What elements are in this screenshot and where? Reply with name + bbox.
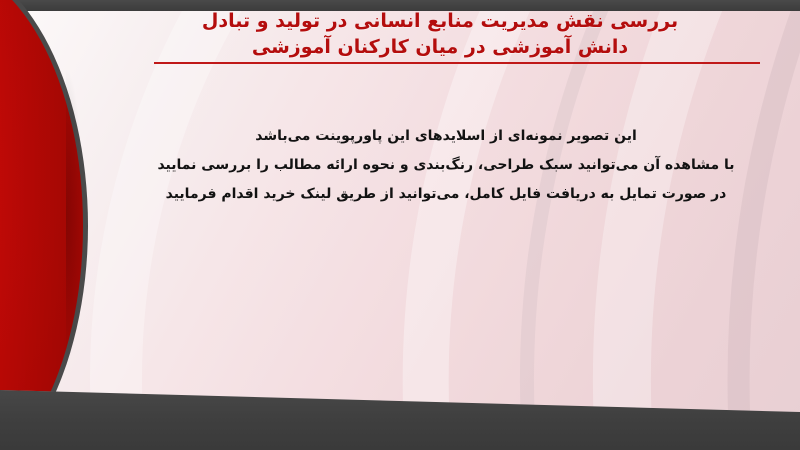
red-ellipse-decoration xyxy=(0,0,88,450)
ellipse-shading xyxy=(0,0,83,450)
body-line-2: با مشاهده آن می‌توانید سبک طراحی، رنگ‌بن… xyxy=(116,151,776,180)
title-underline xyxy=(154,62,760,64)
body-line-3: در صورت تمایل به دریافت فایل کامل، می‌تو… xyxy=(116,180,776,209)
slide-title: بررسی نقش مدیریت منابع انسانی در تولید و… xyxy=(110,8,770,64)
background-arc-texture xyxy=(0,0,800,450)
slide-body-text: این تصویر نمونه‌ای از اسلایدهای این پاور… xyxy=(116,122,776,209)
title-line-2: دانش آموزشی در میان کارکنان آموزشی xyxy=(110,34,770,60)
presentation-slide: بررسی نقش مدیریت منابع انسانی در تولید و… xyxy=(0,0,800,450)
title-line-1: بررسی نقش مدیریت منابع انسانی در تولید و… xyxy=(110,8,770,34)
body-line-1: این تصویر نمونه‌ای از اسلایدهای این پاور… xyxy=(116,122,776,151)
